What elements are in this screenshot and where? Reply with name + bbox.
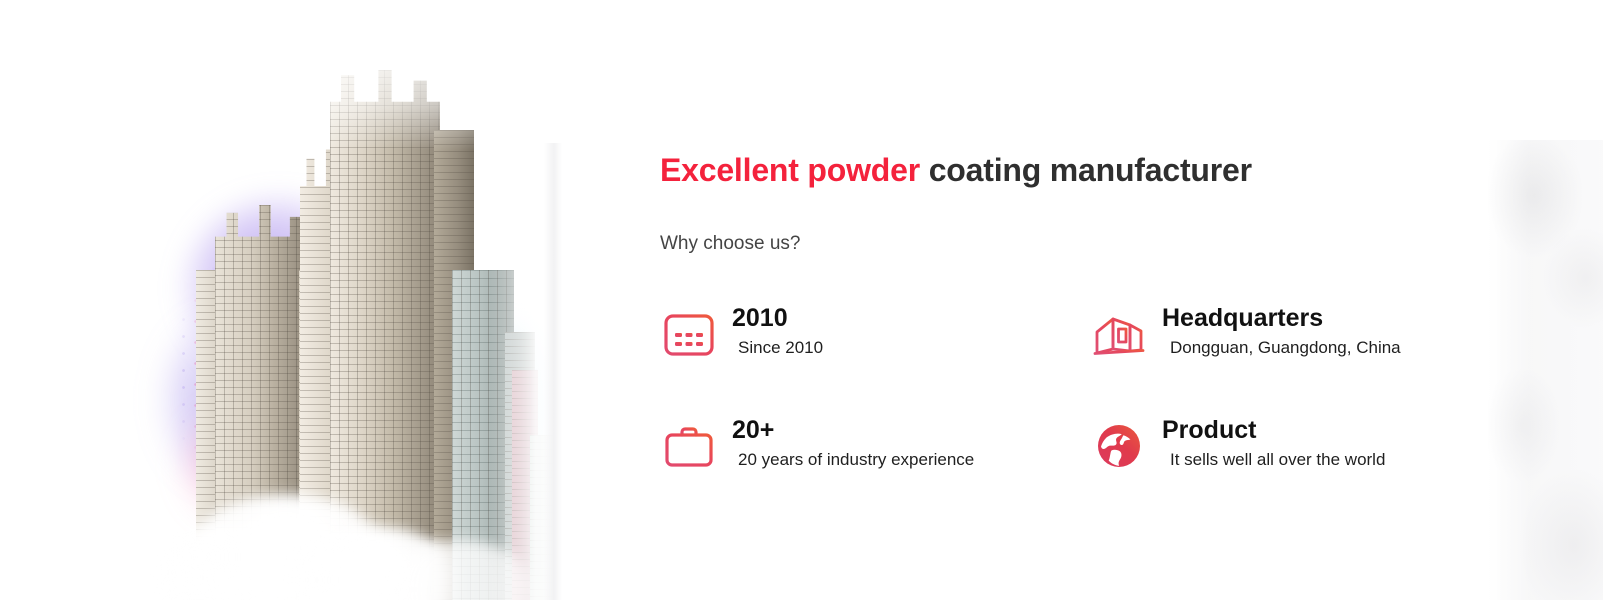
feature-text: 2010 Since 2010 <box>718 303 823 359</box>
feature-desc: 20 years of industry experience <box>732 443 974 470</box>
feature-title: Headquarters <box>1162 305 1401 331</box>
subheading: Why choose us? <box>660 189 1490 255</box>
feature-item-experience: 20+ 20 years of industry experience <box>660 415 1090 527</box>
headline-accent: Excellent powder <box>660 152 920 188</box>
feature-item-since: 2010 Since 2010 <box>660 303 1090 415</box>
building-icon <box>1090 305 1148 363</box>
feature-desc: It sells well all over the world <box>1162 443 1385 470</box>
art-fade-left <box>0 0 180 600</box>
feature-text: 20+ 20 years of industry experience <box>718 415 974 471</box>
briefcase-icon <box>660 417 718 475</box>
calendar-icon <box>660 305 718 363</box>
feature-title: 20+ <box>732 417 974 443</box>
art-fade-top <box>0 0 560 150</box>
feature-text: Product It sells well all over the world <box>1148 415 1385 471</box>
globe-icon <box>1090 417 1148 475</box>
headline-rest: coating manufacturer <box>920 152 1252 188</box>
building-tower-main <box>330 70 440 600</box>
feature-desc: Since 2010 <box>732 331 823 358</box>
feature-item-product: Product It sells well all over the world <box>1090 415 1520 527</box>
feature-title: Product <box>1162 417 1385 443</box>
feature-grid: 2010 Since 2010 <box>660 303 1490 527</box>
building-tower <box>530 435 560 600</box>
content-panel: Excellent powder coating manufacturer Wh… <box>660 152 1490 527</box>
feature-title: 2010 <box>732 305 823 331</box>
feature-item-headquarters: Headquarters Dongguan, Guangdong, China <box>1090 303 1520 415</box>
building-tower <box>215 205 311 600</box>
page-title: Excellent powder coating manufacturer <box>660 152 1490 189</box>
hero-illustration <box>0 0 560 600</box>
feature-text: Headquarters Dongguan, Guangdong, China <box>1148 303 1401 359</box>
promo-banner: Excellent powder coating manufacturer Wh… <box>0 0 1603 600</box>
feature-desc: Dongguan, Guangdong, China <box>1162 331 1401 358</box>
